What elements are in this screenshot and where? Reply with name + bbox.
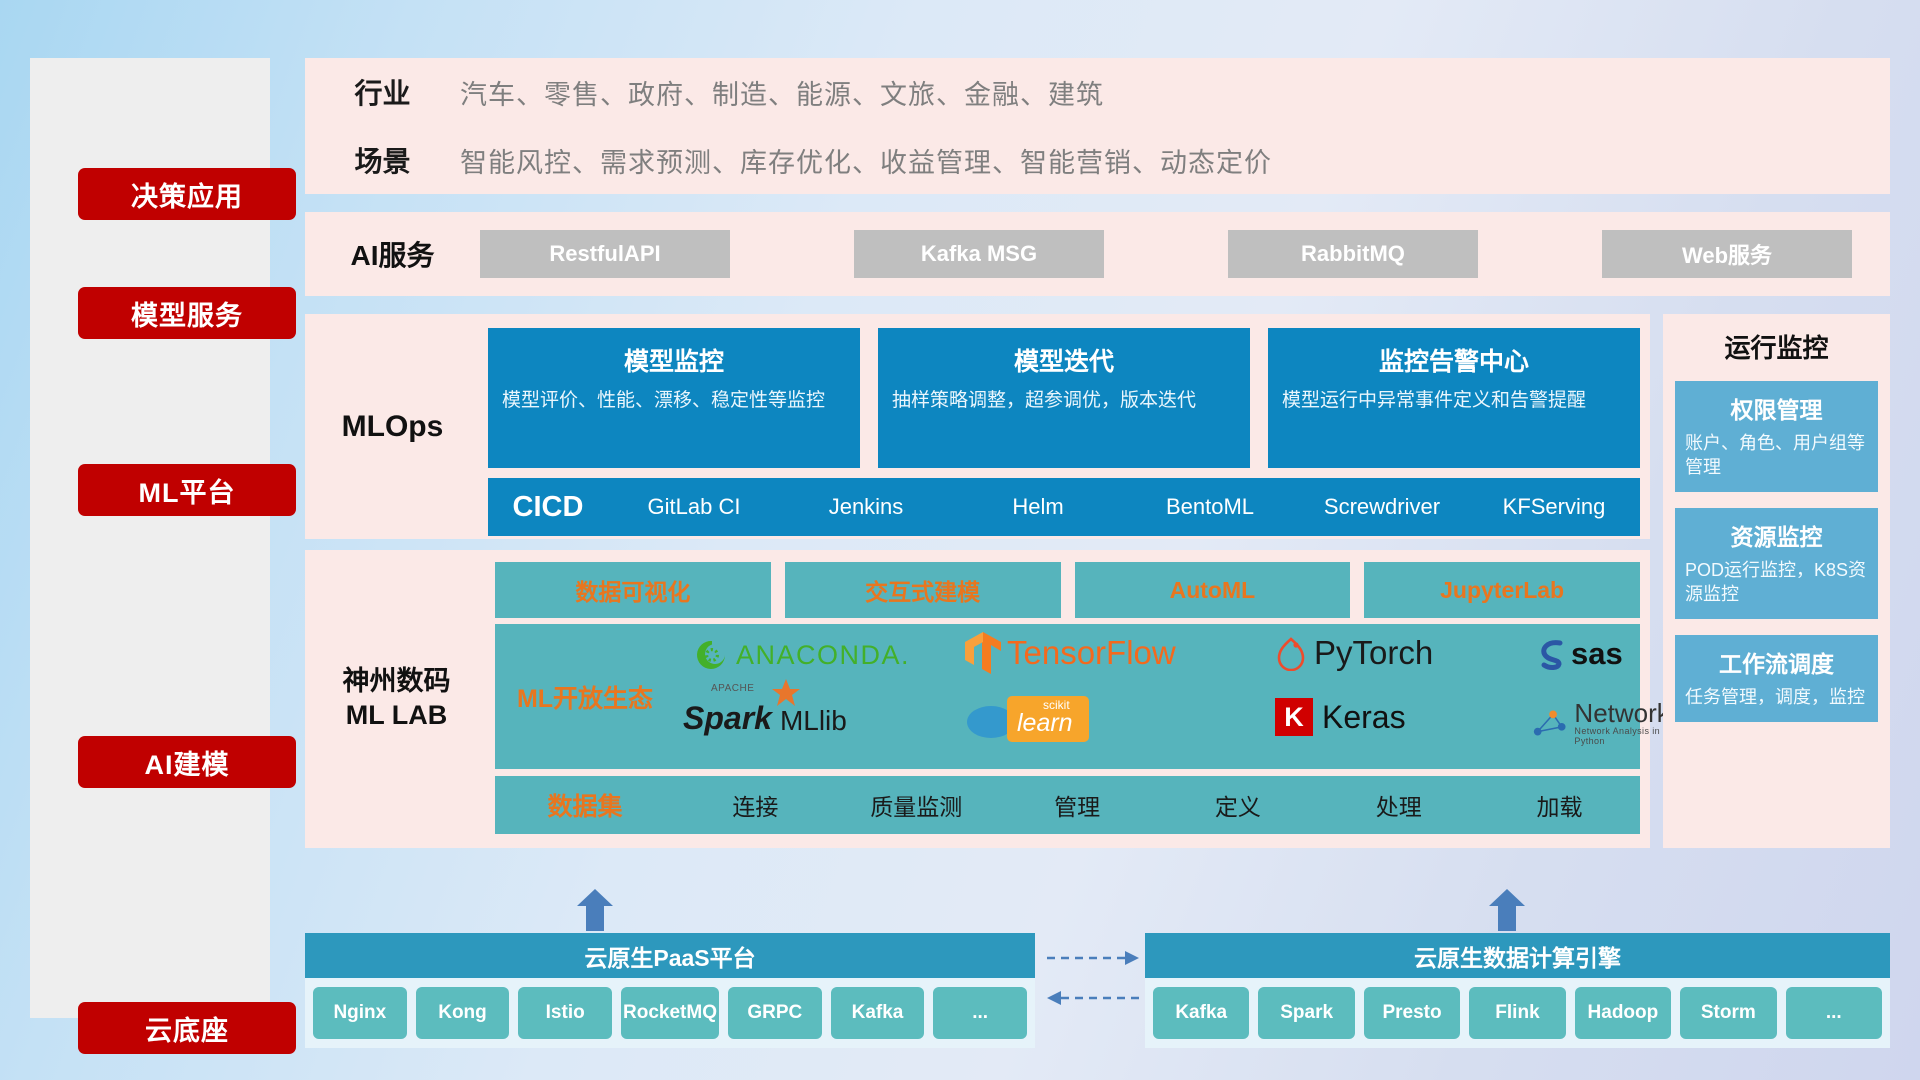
tensorflow-mark-icon [965,632,1001,674]
cloud-chip-nginx[interactable]: Nginx [313,987,407,1039]
cloud-paas-block: 云原生PaaS平台 Nginx Kong Istio RocketMQ GRPC… [305,933,1035,1048]
pytorch-logo: PyTorch [1275,634,1433,672]
up-arrow-icon [573,889,617,931]
sas-swirl-icon [1535,637,1569,671]
ml-lab-band: 神州数码 ML LAB 数据可视化 交互式建模 AutoML JupyterLa… [305,550,1650,848]
anaconda-ring-icon [695,638,729,672]
mlops-card-alert-center[interactable]: 监控告警中心 模型运行中异常事件定义和告警提醒 [1268,328,1640,468]
mlops-card-desc: 抽样策略调整，超参调优，版本迭代 [892,388,1236,413]
scenario-values: 智能风控、需求预测、库存优化、收益管理、智能营销、动态定价 [460,141,1272,180]
dataset-row: 数据集 连接 质量监测 管理 定义 处理 加载 [495,776,1640,834]
tensorflow-wordmark: TensorFlow [1007,634,1176,672]
anaconda-wordmark: ANACONDA. [736,640,910,671]
ml-ecosystem-logo-grid: ANACONDA. TensorFlow [675,624,1640,769]
ml-lab-tab-jupyterlab[interactable]: JupyterLab [1364,562,1640,618]
ai-service-chip-rabbitmq[interactable]: RabbitMQ [1228,230,1478,278]
cloud-chip-rocketmq[interactable]: RocketMQ [621,987,719,1039]
industry-values: 汽车、零售、政府、制造、能源、文旅、金融、建筑 [460,73,1104,112]
ml-lab-tab-data-visualization[interactable]: 数据可视化 [495,562,771,618]
spark-star-icon [771,678,801,708]
ai-service-chip-list: RestfulAPI Kafka MSG RabbitMQ Web服务 [480,212,1880,296]
layer-chip-cloud-foundation[interactable]: 云底座 [78,1002,296,1054]
cicd-item-jenkins[interactable]: Jenkins [780,496,952,518]
sas-wordmark: sas [1571,636,1623,672]
ml-lab-label-line2: ML LAB [346,699,448,733]
bidirectional-connector [1045,936,1141,1014]
tensorflow-logo: TensorFlow [965,632,1176,674]
monitor-card-permission-management[interactable]: 权限管理 账户、角色、用户组等管理 [1675,381,1878,492]
mlops-band: MLOps 模型监控 模型评价、性能、漂移、稳定性等监控 模型迭代 抽样策略调整… [305,314,1650,539]
scikit-learn-logo: scikit learn [965,696,1089,742]
cloud-chip-hadoop[interactable]: Hadoop [1575,987,1671,1039]
layer-chip-decision-app[interactable]: 决策应用 [78,168,296,220]
layer-chip-model-service[interactable]: 模型服务 [78,287,296,339]
cloud-data-engine-title: 云原生数据计算引擎 [1145,933,1890,978]
ml-ecosystem-title: ML开放生态 [495,679,675,715]
runtime-monitoring-title: 运行监控 [1663,314,1890,365]
industry-scenario-band: 行业 汽车、零售、政府、制造、能源、文旅、金融、建筑 场景 智能风控、需求预测、… [305,58,1890,194]
scikit-learn-wordmark: learn [1017,711,1073,736]
cloud-chip-kafka[interactable]: Kafka [1153,987,1249,1039]
monitor-card-title: 资源监控 [1685,518,1868,552]
mlops-card-desc: 模型运行中异常事件定义和告警提醒 [1282,388,1626,413]
mlops-card-model-iteration[interactable]: 模型迭代 抽样策略调整，超参调优，版本迭代 [878,328,1250,468]
ml-lab-tab-automl[interactable]: AutoML [1075,562,1351,618]
layer-chip-ml-platform[interactable]: ML平台 [78,464,296,516]
dataset-title: 数据集 [495,787,675,823]
apache-spark-mllib-logo: APACHE Spark MLlib [683,700,847,737]
mlops-card-list: 模型监控 模型评价、性能、漂移、稳定性等监控 模型迭代 抽样策略调整，超参调优，… [488,328,1640,468]
monitor-card-resource-monitoring[interactable]: 资源监控 POD运行监控，K8S资源监控 [1675,508,1878,619]
layer-chip-ai-modeling[interactable]: AI建模 [78,736,296,788]
ai-service-label: AI服务 [305,212,480,296]
cloud-chip-flink[interactable]: Flink [1469,987,1565,1039]
scenario-label: 场景 [305,140,460,180]
ai-service-chip-restfulapi[interactable]: RestfulAPI [480,230,730,278]
ai-service-chip-web-service[interactable]: Web服务 [1602,230,1852,278]
cicd-item-screwdriver[interactable]: Screwdriver [1296,496,1468,518]
ml-ecosystem-row: ML开放生态 ANACONDA. [495,624,1640,769]
architecture-diagram: 决策应用 模型服务 ML平台 AI建模 云底座 行业 汽车、零售、政府、制造、能… [0,0,1920,1080]
pytorch-flame-icon [1275,635,1307,671]
ai-service-chip-kafka-msg[interactable]: Kafka MSG [854,230,1104,278]
mlops-card-desc: 模型评价、性能、漂移、稳定性等监控 [502,388,846,413]
sas-logo: sas [1535,636,1623,672]
dataset-item-loading[interactable]: 加载 [1479,788,1640,822]
ml-lab-label: 神州数码 ML LAB [305,550,488,848]
monitor-card-workflow-scheduling[interactable]: 工作流调度 任务管理，调度，监控 [1675,635,1878,722]
cloud-chip-grpc[interactable]: GRPC [728,987,822,1039]
monitor-card-desc: 账户、角色、用户组等管理 [1685,432,1868,480]
cloud-chip-kong[interactable]: Kong [416,987,510,1039]
cloud-paas-chip-list: Nginx Kong Istio RocketMQ GRPC Kafka ... [305,978,1035,1048]
spark-wordmark: Spark [683,700,772,736]
keras-wordmark: Keras [1322,699,1406,736]
keras-k-icon: K [1275,698,1313,736]
cloud-data-engine-chip-list: Kafka Spark Presto Flink Hadoop Storm ..… [1145,978,1890,1048]
dataset-item-definition[interactable]: 定义 [1157,788,1318,822]
mllib-wordmark: MLlib [780,705,847,737]
industry-label: 行业 [305,72,460,112]
keras-logo: K Keras [1275,698,1406,736]
cloud-chip-kafka[interactable]: Kafka [831,987,925,1039]
cloud-chip-istio[interactable]: Istio [518,987,612,1039]
cloud-chip-spark[interactable]: Spark [1258,987,1354,1039]
dataset-item-quality-monitoring[interactable]: 质量监测 [836,788,997,822]
cloud-chip-storm[interactable]: Storm [1680,987,1776,1039]
mlops-card-title: 模型监控 [502,342,846,378]
monitor-card-desc: POD运行监控，K8S资源监控 [1685,559,1868,607]
dataset-item-connect[interactable]: 连接 [675,788,836,822]
cicd-item-kfserving[interactable]: KFServing [1468,496,1640,518]
connector-arrow-left [1047,991,1061,1005]
cloud-paas-title: 云原生PaaS平台 [305,933,1035,978]
networkx-graph-icon [1530,705,1568,741]
dataset-item-processing[interactable]: 处理 [1318,788,1479,822]
connector-arrow-right [1125,951,1139,965]
cloud-chip-more[interactable]: ... [1786,987,1882,1039]
cicd-item-bentoml[interactable]: BentoML [1124,496,1296,518]
cicd-title: CICD [488,491,608,524]
cicd-bar: CICD GitLab CI Jenkins Helm BentoML Scre… [488,478,1640,536]
mlops-label: MLOps [305,314,480,539]
cloud-chip-more[interactable]: ... [933,987,1027,1039]
ml-lab-tab-list: 数据可视化 交互式建模 AutoML JupyterLab [495,562,1640,618]
cicd-item-helm[interactable]: Helm [952,496,1124,518]
pytorch-wordmark: PyTorch [1314,634,1433,672]
mlops-card-model-monitoring[interactable]: 模型监控 模型评价、性能、漂移、稳定性等监控 [488,328,860,468]
cicd-item-gitlab-ci[interactable]: GitLab CI [608,496,780,518]
mlops-card-title: 监控告警中心 [1282,342,1626,378]
layer-rail: 决策应用 模型服务 ML平台 AI建模 云底座 [30,58,270,1018]
monitor-card-title: 权限管理 [1685,391,1868,425]
mlops-card-title: 模型迭代 [892,342,1236,378]
anaconda-logo: ANACONDA. [695,638,910,672]
runtime-monitoring-column: 运行监控 权限管理 账户、角色、用户组等管理 资源监控 POD运行监控，K8S资… [1663,314,1890,848]
ai-service-band: AI服务 RestfulAPI Kafka MSG RabbitMQ Web服务 [305,212,1890,296]
industry-row: 行业 汽车、零售、政府、制造、能源、文旅、金融、建筑 [305,58,1890,126]
monitor-card-title: 工作流调度 [1685,645,1868,679]
ml-lab-tab-interactive-modeling[interactable]: 交互式建模 [785,562,1061,618]
up-arrow-icon [1485,889,1529,931]
spark-apache-badge: APACHE [711,683,754,694]
ml-lab-label-line1: 神州数码 [343,665,451,699]
cloud-chip-presto[interactable]: Presto [1364,987,1460,1039]
dataset-item-management[interactable]: 管理 [997,788,1158,822]
scenario-row: 场景 智能风控、需求预测、库存优化、收益管理、智能营销、动态定价 [305,126,1890,194]
cloud-data-engine-block: 云原生数据计算引擎 Kafka Spark Presto Flink Hadoo… [1145,933,1890,1048]
monitor-card-desc: 任务管理，调度，监控 [1685,686,1868,710]
